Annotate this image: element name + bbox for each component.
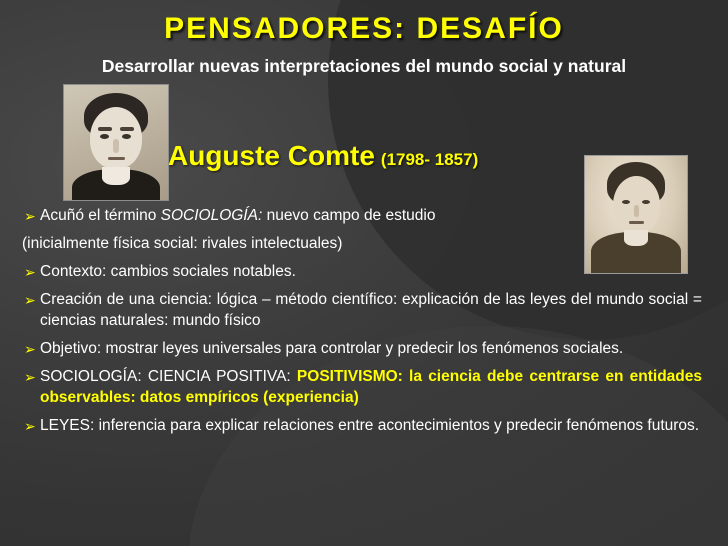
- list-item-text: Contexto: cambios sociales notables.: [40, 261, 716, 282]
- comte-engraving-portrait: [63, 84, 169, 201]
- bullet-text-part: SOCIOLOGÍA: CIENCIA POSITIVA:: [40, 368, 297, 385]
- list-item-text: Acuñó el término SOCIOLOGÍA: nuevo campo…: [40, 205, 716, 226]
- portrait-brow-left: [98, 127, 112, 131]
- portrait-brow-right: [120, 127, 134, 131]
- list-item: ➢ Objetivo: mostrar leyes universales pa…: [18, 338, 716, 359]
- page-title: PENSADORES: DESAFÍO: [0, 12, 728, 46]
- bullet-arrow-icon: ➢: [18, 289, 40, 310]
- portrait-eye-left: [100, 134, 109, 139]
- page-subtitle: Desarrollar nuevas interpretaciones del …: [0, 56, 728, 77]
- bullet-text-part: Acuñó el término: [40, 207, 161, 224]
- portrait-nose: [113, 139, 119, 153]
- list-item: (inicialmente física social: rivales int…: [18, 233, 716, 254]
- portrait-collar: [102, 167, 130, 185]
- list-item: ➢ Creación de una ciencia: lógica – méto…: [18, 289, 716, 331]
- person-name-heading: Auguste Comte(1798- 1857): [168, 140, 478, 172]
- list-item: ➢ Contexto: cambios sociales notables.: [18, 261, 716, 282]
- bullet-arrow-icon: ➢: [18, 415, 40, 436]
- bullet-arrow-icon: ➢: [18, 261, 40, 282]
- bullet-text-part: nuevo campo de estudio: [262, 207, 435, 224]
- list-item-text: Creación de una ciencia: lógica – método…: [40, 289, 716, 331]
- portrait-mouth: [108, 157, 125, 160]
- portrait-eye-right: [642, 200, 650, 204]
- bullet-text-emphasis: SOCIOLOGÍA:: [161, 207, 263, 224]
- list-item-text: LEYES: inferencia para explicar relacion…: [40, 415, 716, 436]
- portrait-eye-right: [122, 134, 131, 139]
- bullet-list: ➢ Acuñó el término SOCIOLOGÍA: nuevo cam…: [18, 205, 716, 443]
- list-item-text: SOCIOLOGÍA: CIENCIA POSITIVA: POSITIVISM…: [40, 366, 716, 408]
- person-name: Auguste Comte: [168, 140, 375, 171]
- list-item-text: (inicialmente física social: rivales int…: [22, 233, 716, 254]
- portrait-eye-left: [622, 200, 630, 204]
- bullet-arrow-icon: ➢: [18, 338, 40, 359]
- bullet-arrow-icon: ➢: [18, 366, 40, 387]
- slide: PENSADORES: DESAFÍO Desarrollar nuevas i…: [0, 0, 728, 546]
- person-dates: (1798- 1857): [381, 150, 478, 169]
- bullet-arrow-icon: ➢: [18, 205, 40, 226]
- list-item: ➢ LEYES: inferencia para explicar relaci…: [18, 415, 716, 436]
- slide-content: PENSADORES: DESAFÍO Desarrollar nuevas i…: [0, 0, 728, 546]
- list-item: ➢ SOCIOLOGÍA: CIENCIA POSITIVA: POSITIVI…: [18, 366, 716, 408]
- list-item-text: Objetivo: mostrar leyes universales para…: [40, 338, 716, 359]
- list-item: ➢ Acuñó el término SOCIOLOGÍA: nuevo cam…: [18, 205, 716, 226]
